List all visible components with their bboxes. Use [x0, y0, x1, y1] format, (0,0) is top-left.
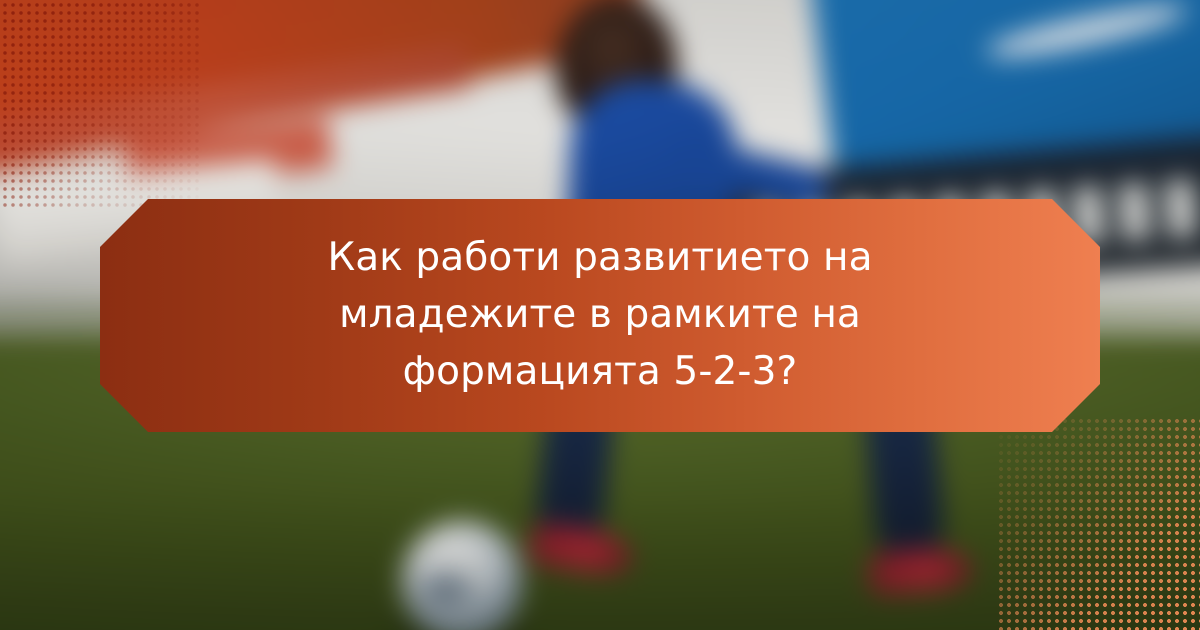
social-card: Как работи развитието на младежите в рам…	[0, 0, 1200, 630]
title-banner: Как работи развитието на младежите в рам…	[100, 199, 1100, 432]
page-title: Как работи развитието на младежите в рам…	[230, 230, 970, 401]
